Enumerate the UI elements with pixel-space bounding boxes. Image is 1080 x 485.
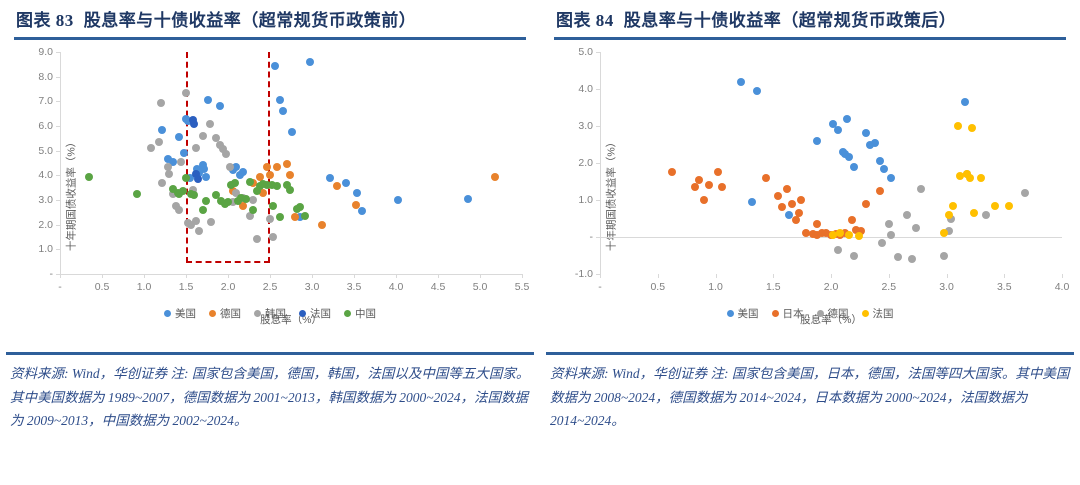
y-axis-tick-mark — [56, 200, 60, 201]
scatter-point — [940, 229, 948, 237]
scatter-point — [263, 163, 271, 171]
scatter-point — [157, 99, 165, 107]
scatter-point — [199, 132, 207, 140]
legend-item-label: 美国 — [738, 306, 759, 321]
y-axis-tick-label: 9.0 — [38, 46, 53, 58]
scatter-point — [158, 126, 166, 134]
scatter-point — [202, 173, 210, 181]
y-axis-tick-label: 2.0 — [38, 219, 53, 231]
scatter-point — [862, 129, 870, 137]
scatter-point — [894, 253, 902, 261]
scatter-point — [195, 227, 203, 235]
y-axis-tick-label: 7.0 — [38, 95, 53, 107]
scatter-point — [862, 200, 870, 208]
figure-pair-page: 图表 83股息率与十债收益率（超常规货币政策前） 十年期国债收益率（%） -1.… — [0, 0, 1080, 485]
x-axis-tick-mark — [228, 274, 229, 278]
scatter-point — [834, 246, 842, 254]
title-divider — [554, 37, 1066, 40]
source-note-83: 资料来源: Wind，华创证券 注: 国家包含美国，德国，韩国，法国以及中国等五… — [10, 362, 530, 433]
x-axis-tick-mark — [1004, 274, 1005, 278]
scatter-point — [970, 209, 978, 217]
scatter-point — [175, 206, 183, 214]
x-axis-tick-label: 3.0 — [939, 281, 954, 293]
scatter-point — [778, 203, 786, 211]
scatter-point — [797, 196, 805, 204]
scatter-point — [850, 252, 858, 260]
scatter-point — [333, 182, 341, 190]
legend-swatch-icon — [299, 310, 306, 317]
chart-legend-83[interactable]: 美国德国韩国法国中国 — [0, 306, 540, 321]
x-axis-tick-mark — [480, 274, 481, 278]
scatter-point — [878, 239, 886, 247]
y-axis-tick-mark — [56, 225, 60, 226]
scatter-point — [242, 195, 250, 203]
scatter-point — [887, 231, 895, 239]
scatter-point — [190, 191, 198, 199]
figure-panel-84: 图表 84股息率与十债收益率（超常规货币政策后） 十年期国债收益率（%） -1.… — [540, 0, 1080, 485]
figure-number: 图表 84 — [556, 11, 614, 30]
x-axis-tick-label: 5.5 — [515, 281, 530, 293]
y-axis-tick-label: 1.0 — [38, 243, 53, 255]
scatter-point — [273, 163, 281, 171]
scatter-point — [269, 202, 277, 210]
y-axis-tick-mark — [596, 163, 600, 164]
scatter-point — [342, 179, 350, 187]
x-axis-tick-label: 4.0 — [1055, 281, 1070, 293]
legend-item-韩国[interactable]: 韩国 — [254, 306, 286, 321]
legend-item-德国[interactable]: 德国 — [817, 306, 849, 321]
note-divider — [6, 352, 534, 355]
y-axis-tick-mark — [596, 89, 600, 90]
x-axis-tick-label: - — [598, 281, 602, 293]
scatter-point — [908, 255, 916, 263]
legend-swatch-icon — [209, 310, 216, 317]
scatter-point — [795, 209, 803, 217]
y-axis-tick-label: -1.0 — [575, 268, 593, 280]
x-axis-tick-label: 3.5 — [997, 281, 1012, 293]
scatter-point — [871, 139, 879, 147]
scatter-point — [705, 181, 713, 189]
scatter-point — [940, 252, 948, 260]
scatter-point — [182, 89, 190, 97]
chart-area-84: 十年期国债收益率（%） -1.0-1.02.03.04.05.0-0.51.01… — [552, 44, 1068, 344]
x-axis-tick-label: 3.5 — [347, 281, 362, 293]
scatter-point — [885, 220, 893, 228]
scatter-point — [239, 168, 247, 176]
scatter-point — [845, 231, 853, 239]
scatter-point — [182, 174, 190, 182]
scatter-point — [246, 178, 254, 186]
legend-swatch-icon — [817, 310, 824, 317]
scatter-point — [222, 150, 230, 158]
y-axis-tick-label: 6.0 — [38, 120, 53, 132]
y-axis-tick-label: 4.0 — [38, 169, 53, 181]
legend-item-label: 德国 — [828, 306, 849, 321]
scatter-point — [192, 217, 200, 225]
scatter-point — [224, 198, 232, 206]
scatter-point — [966, 174, 974, 182]
scatter-point — [848, 216, 856, 224]
scatter-point — [695, 176, 703, 184]
scatter-point — [85, 173, 93, 181]
scatter-point — [165, 170, 173, 178]
scatter-point — [748, 198, 756, 206]
scatter-point — [668, 168, 676, 176]
legend-swatch-icon — [727, 310, 734, 317]
scatter-point — [774, 192, 782, 200]
x-axis-tick-mark — [312, 274, 313, 278]
x-axis-tick-mark — [354, 274, 355, 278]
x-axis-tick-mark — [144, 274, 145, 278]
scatter-point — [961, 98, 969, 106]
scatter-point — [266, 171, 274, 179]
y-axis-tick-label: 8.0 — [38, 71, 53, 83]
legend-swatch-icon — [344, 310, 351, 317]
y-axis-tick-mark — [596, 237, 600, 238]
y-axis-tick-label: - — [50, 268, 54, 280]
y-axis-tick-mark — [56, 126, 60, 127]
x-axis-tick-label: 5.0 — [473, 281, 488, 293]
scatter-point — [843, 115, 851, 123]
scatter-point — [291, 213, 299, 221]
scatter-point — [912, 224, 920, 232]
scatter-point — [266, 215, 274, 223]
x-axis-tick-label: 2.0 — [221, 281, 236, 293]
x-axis-tick-mark — [947, 274, 948, 278]
y-axis-tick-mark — [56, 101, 60, 102]
scatter-point — [718, 183, 726, 191]
x-axis-tick-label: 1.0 — [708, 281, 723, 293]
x-axis-tick-label: 1.0 — [137, 281, 152, 293]
y-axis-tick-mark — [56, 151, 60, 152]
scatter-point — [207, 218, 215, 226]
legend-item-label: 中国 — [355, 306, 376, 321]
scatter-point — [177, 158, 185, 166]
scatter-point — [464, 195, 472, 203]
x-axis-tick-label: 2.5 — [881, 281, 896, 293]
scatter-point — [1021, 189, 1029, 197]
scatter-point — [949, 202, 957, 210]
figure-number: 图表 83 — [16, 11, 74, 30]
scatter-point — [276, 213, 284, 221]
x-axis-tick-mark — [831, 274, 832, 278]
scatter-point — [691, 183, 699, 191]
legend-swatch-icon — [772, 310, 779, 317]
x-axis-tick-mark — [438, 274, 439, 278]
scatter-point — [147, 144, 155, 152]
scatter-point — [306, 58, 314, 66]
scatter-point — [286, 186, 294, 194]
scatter-point — [180, 149, 188, 157]
scatter-point — [273, 182, 281, 190]
legend-item-美国[interactable]: 美国 — [727, 306, 759, 321]
y-axis-tick-label: 3.0 — [38, 194, 53, 206]
scatter-point — [326, 174, 334, 182]
x-axis-tick-mark — [773, 274, 774, 278]
scatter-point — [249, 206, 257, 214]
scatter-point — [792, 216, 800, 224]
scatter-point — [296, 203, 304, 211]
scatter-point — [834, 126, 842, 134]
y-axis-tick-label: 5.0 — [578, 46, 593, 58]
scatter-point — [318, 221, 326, 229]
legend-item-中国[interactable]: 中国 — [344, 306, 376, 321]
legend-item-美国[interactable]: 美国 — [164, 306, 196, 321]
legend-swatch-icon — [164, 310, 171, 317]
scatter-point — [954, 122, 962, 130]
x-axis-tick-mark — [270, 274, 271, 278]
figure-panel-83: 图表 83股息率与十债收益率（超常规货币政策前） 十年期国债收益率（%） -1.… — [0, 0, 540, 485]
legend-item-法国[interactable]: 法国 — [299, 306, 331, 321]
scatter-point — [190, 120, 198, 128]
scatter-point — [945, 211, 953, 219]
scatter-point — [288, 128, 296, 136]
y-axis-tick-label: 4.0 — [578, 83, 593, 95]
scatter-point — [887, 174, 895, 182]
legend-item-label: 美国 — [175, 306, 196, 321]
x-axis-tick-mark — [186, 274, 187, 278]
scatter-point — [845, 153, 853, 161]
scatter-point — [855, 232, 863, 240]
legend-item-label: 德国 — [220, 306, 241, 321]
x-axis-tick-label: 4.0 — [389, 281, 404, 293]
scatter-point — [279, 107, 287, 115]
x-axis-tick-mark — [658, 274, 659, 278]
y-axis-line — [60, 52, 61, 274]
scatter-point — [231, 179, 239, 187]
legend-item-label: 法国 — [310, 306, 331, 321]
x-axis-tick-label: 3.0 — [305, 281, 320, 293]
scatter-point — [158, 179, 166, 187]
scatter-point — [783, 185, 791, 193]
scatter-point — [216, 102, 224, 110]
legend-item-label: 法国 — [873, 306, 894, 321]
scatter-point — [276, 96, 284, 104]
y-axis-tick-mark — [56, 175, 60, 176]
y-axis-tick-mark — [56, 77, 60, 78]
figure-title-text: 股息率与十债收益率（超常规货币政策前） — [84, 11, 417, 30]
x-axis-tick-mark — [522, 274, 523, 278]
title-divider — [14, 37, 526, 40]
x-axis-tick-mark — [600, 274, 601, 278]
legend-swatch-icon — [862, 310, 869, 317]
y-axis-tick-label: 2.0 — [578, 157, 593, 169]
scatter-point — [491, 173, 499, 181]
x-axis-tick-label: 1.5 — [179, 281, 194, 293]
scatter-point — [199, 206, 207, 214]
scatter-point — [353, 189, 361, 197]
x-axis-tick-label: 0.5 — [95, 281, 110, 293]
scatter-point — [226, 163, 234, 171]
scatter-plot-83[interactable]: -1.02.03.04.05.06.07.08.09.0-0.51.01.52.… — [60, 52, 522, 274]
scatter-point — [253, 235, 261, 243]
scatter-point — [204, 96, 212, 104]
scatter-point — [836, 229, 844, 237]
x-axis-tick-label: 2.5 — [263, 281, 278, 293]
scatter-point — [1005, 202, 1013, 210]
x-axis-tick-mark — [889, 274, 890, 278]
scatter-point — [271, 62, 279, 70]
legend-item-德国[interactable]: 德国 — [209, 306, 241, 321]
scatter-point — [982, 211, 990, 219]
scatter-point — [206, 120, 214, 128]
scatter-point — [876, 187, 884, 195]
scatter-point — [155, 138, 163, 146]
figure-title-text: 股息率与十债收益率（超常规货币政策后） — [624, 11, 957, 30]
scatter-point — [286, 171, 294, 179]
scatter-point — [202, 197, 210, 205]
x-axis-line — [60, 274, 522, 275]
scatter-plot-84[interactable]: -1.0-1.02.03.04.05.0-0.51.01.52.02.53.03… — [600, 52, 1062, 274]
figure-title-84: 图表 84股息率与十债收益率（超常规货币政策后） — [548, 0, 1072, 35]
scatter-point — [903, 211, 911, 219]
y-axis-tick-mark — [56, 52, 60, 53]
x-axis-tick-mark — [60, 274, 61, 278]
y-axis-tick-mark — [56, 249, 60, 250]
scatter-point — [394, 196, 402, 204]
scatter-point — [977, 174, 985, 182]
scatter-point — [714, 168, 722, 176]
scatter-point — [737, 78, 745, 86]
chart-legend-84[interactable]: 美国日本德国法国 — [540, 306, 1080, 321]
scatter-point — [358, 207, 366, 215]
x-axis-tick-mark — [396, 274, 397, 278]
scatter-point — [269, 233, 277, 241]
scatter-point — [850, 163, 858, 171]
scatter-point — [301, 212, 309, 220]
x-axis-tick-label: - — [58, 281, 62, 293]
chart-area-83: 十年期国债收益率（%） -1.02.03.04.05.06.07.08.09.0… — [12, 44, 528, 344]
scatter-point — [194, 175, 202, 183]
scatter-point — [179, 187, 187, 195]
source-note-84: 资料来源: Wind，华创证券 注: 国家包含美国，日本，德国，法国等四大国家。… — [550, 362, 1070, 433]
x-axis-tick-mark — [716, 274, 717, 278]
scatter-point — [813, 220, 821, 228]
figure-title-83: 图表 83股息率与十债收益率（超常规货币政策前） — [8, 0, 532, 35]
legend-item-日本[interactable]: 日本 — [772, 306, 804, 321]
scatter-point — [192, 144, 200, 152]
y-axis-tick-label: 3.0 — [578, 120, 593, 132]
y-axis-tick-mark — [596, 52, 600, 53]
scatter-point — [133, 190, 141, 198]
y-axis-line — [600, 52, 601, 274]
scatter-point — [283, 160, 291, 168]
y-axis-tick-label: 5.0 — [38, 145, 53, 157]
scatter-point — [991, 202, 999, 210]
x-axis-tick-label: 2.0 — [824, 281, 839, 293]
x-axis-tick-mark — [102, 274, 103, 278]
scatter-point — [352, 201, 360, 209]
y-axis-tick-mark — [596, 200, 600, 201]
scatter-point — [880, 165, 888, 173]
note-divider — [546, 352, 1074, 355]
y-axis-tick-label: - — [590, 231, 594, 243]
scatter-point — [788, 200, 796, 208]
scatter-point — [813, 137, 821, 145]
x-axis-tick-label: 1.5 — [766, 281, 781, 293]
legend-item-label: 日本 — [783, 306, 804, 321]
scatter-point — [175, 133, 183, 141]
x-axis-tick-label: 0.5 — [650, 281, 665, 293]
legend-swatch-icon — [254, 310, 261, 317]
scatter-point — [700, 196, 708, 204]
scatter-point — [917, 185, 925, 193]
x-axis-tick-label: 4.5 — [431, 281, 446, 293]
y-axis-tick-mark — [596, 126, 600, 127]
y-axis-tick-label: 1.0 — [578, 194, 593, 206]
scatter-point — [753, 87, 761, 95]
x-axis-tick-mark — [1062, 274, 1063, 278]
legend-item-法国[interactable]: 法国 — [862, 306, 894, 321]
scatter-point — [762, 174, 770, 182]
legend-item-label: 韩国 — [265, 306, 286, 321]
scatter-point — [968, 124, 976, 132]
